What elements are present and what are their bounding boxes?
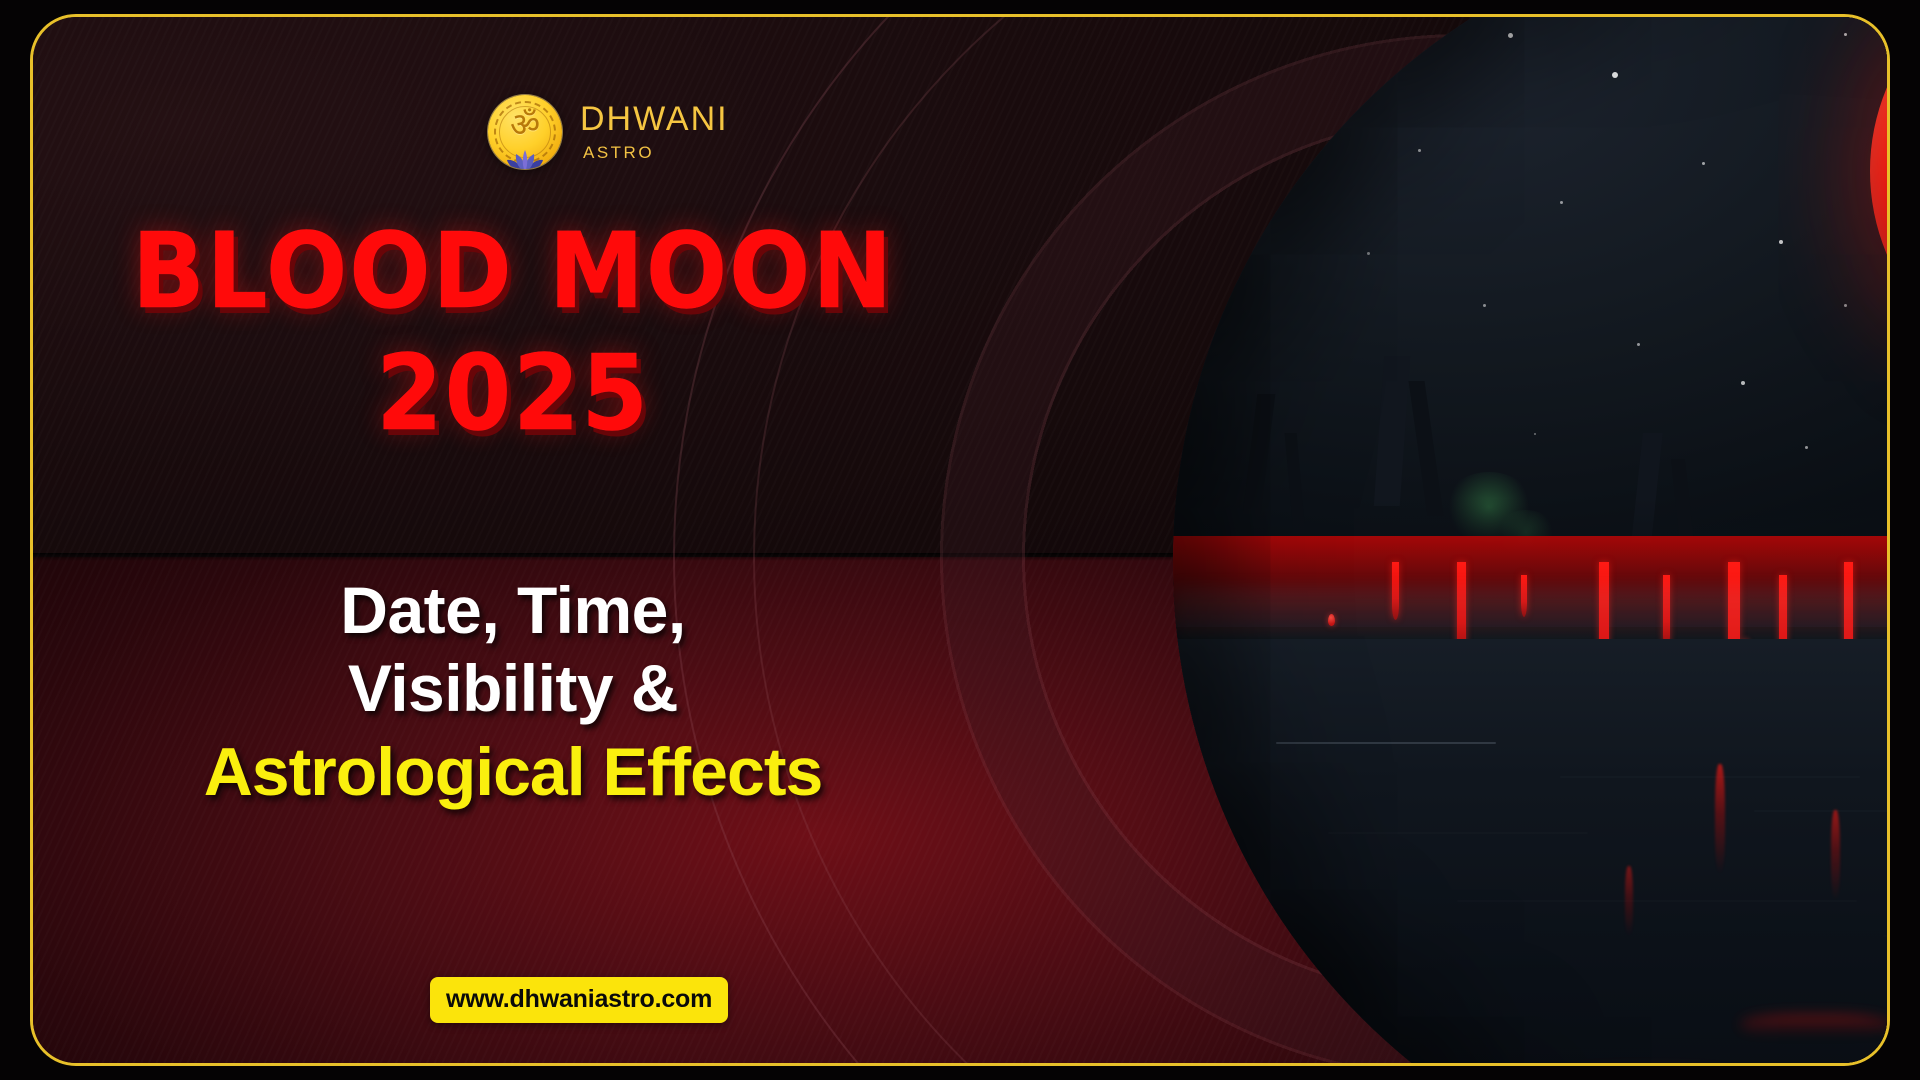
brand-logo[interactable]: ॐ DHWANI ASTRO: [488, 95, 729, 169]
artwork-canvas: [1173, 14, 1890, 1066]
blood-moon-artwork: [1173, 14, 1890, 1066]
subtitle-block: Date, Time, Visibility & Astrological Ef…: [33, 572, 993, 812]
brand-name: DHWANI: [580, 102, 729, 136]
headline-line-2: 2025: [71, 344, 954, 444]
blood-moon-banner: GEMINI CANCER LEO: [0, 0, 1920, 1080]
banner-frame: GEMINI CANCER LEO: [30, 14, 1890, 1066]
brand-logo-text: DHWANI ASTRO: [580, 102, 729, 163]
subtitle-line-2: Visibility &: [33, 650, 993, 728]
water-surface: [1173, 639, 1890, 1066]
subtitle-line-1: Date, Time,: [33, 572, 993, 650]
lotus-icon: [497, 145, 553, 169]
website-url-badge[interactable]: www.dhwaniastro.com: [430, 977, 728, 1023]
subtitle-line-3-accent: Astrological Effects: [33, 732, 993, 812]
om-lotus-medallion-icon: ॐ: [488, 95, 562, 169]
website-url-text: www.dhwaniastro.com: [446, 985, 712, 1013]
headline-line-1: BLOOD MOON: [71, 222, 954, 322]
brand-tagline: ASTRO: [583, 143, 729, 163]
headline-block: BLOOD MOON 2025: [33, 222, 993, 444]
